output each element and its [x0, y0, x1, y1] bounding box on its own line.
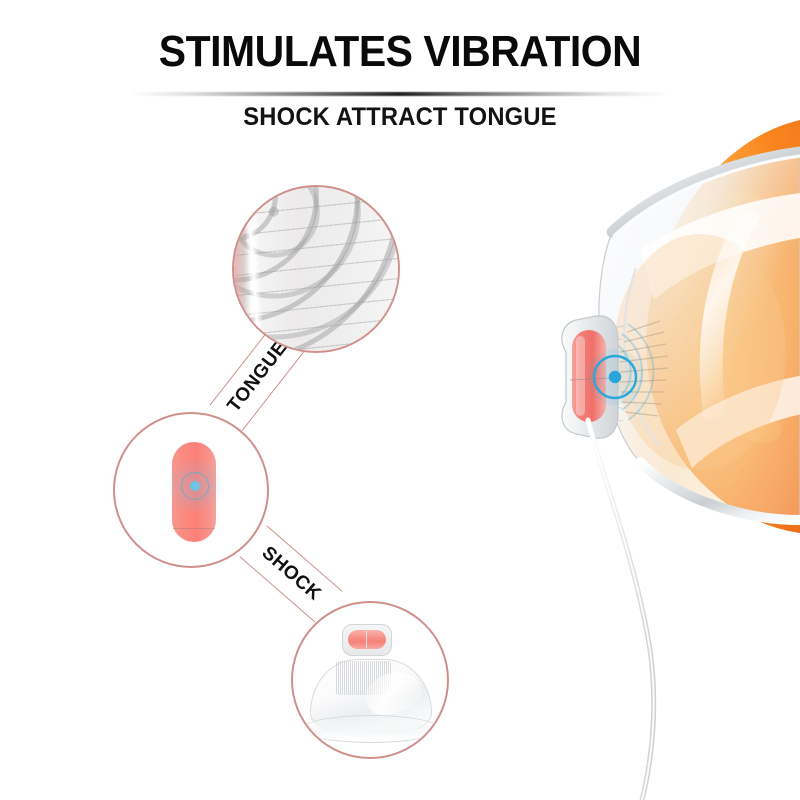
- product-infographic: STIMULATES VIBRATION SHOCK ATTRACT TONGU…: [0, 0, 800, 800]
- dome-capsule-seam: [366, 631, 367, 648]
- vibration-indicator: [587, 349, 643, 405]
- power-cable: [588, 420, 654, 800]
- suction-dome-cup: [599, 152, 800, 520]
- vibration-dot-icon: [190, 481, 200, 491]
- dome-rim: [301, 715, 441, 743]
- callout-suction-dome: [291, 601, 449, 759]
- callout-tongue-texture: [232, 185, 400, 353]
- capsule-seam: [173, 528, 215, 529]
- callout-vibration-capsule: [113, 412, 269, 568]
